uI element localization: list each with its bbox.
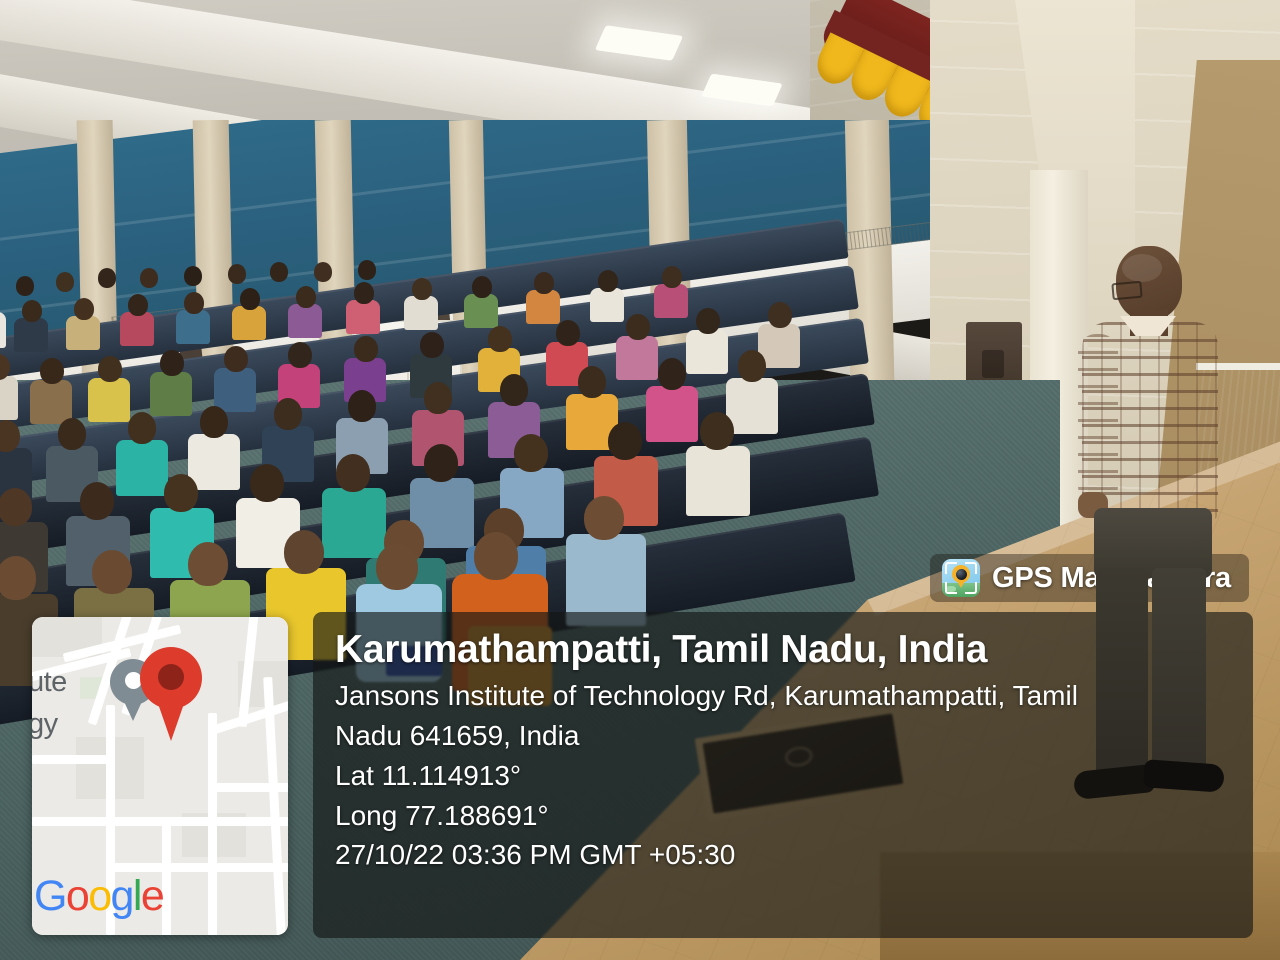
presenter-leg (1152, 568, 1206, 786)
presenter-shoe (1143, 759, 1225, 793)
presenter-arm (1078, 334, 1118, 504)
google-logo-e: e (141, 872, 163, 921)
longitude-value: Long 77.188691° (335, 796, 1235, 836)
map-label-line-1: ute (32, 667, 67, 698)
presenter-leg (1096, 568, 1148, 788)
google-logo: Google (34, 872, 163, 921)
presenter-shoe (1073, 764, 1155, 800)
map-label-line-2: gy (32, 709, 58, 740)
google-logo-o2: o (88, 872, 110, 921)
screenshot-root: GPS Map Camera Karumathampatti, Tamil Na… (0, 0, 1280, 960)
map-thumbnail-card[interactable]: ute gy Google (32, 617, 288, 935)
google-logo-g1: G (34, 872, 66, 921)
eyeglasses (1111, 281, 1142, 301)
gps-map-camera-app-icon (942, 559, 980, 597)
google-logo-g2: g (111, 872, 133, 921)
presenter-figure (1082, 246, 1218, 796)
capture-timestamp: 27/10/22 03:36 PM GMT +05:30 (335, 835, 1235, 875)
selected-location-pin-icon (140, 647, 202, 709)
google-logo-l: l (133, 872, 141, 921)
google-logo-o1: o (66, 872, 88, 921)
map-background: ute gy Google (32, 617, 288, 935)
